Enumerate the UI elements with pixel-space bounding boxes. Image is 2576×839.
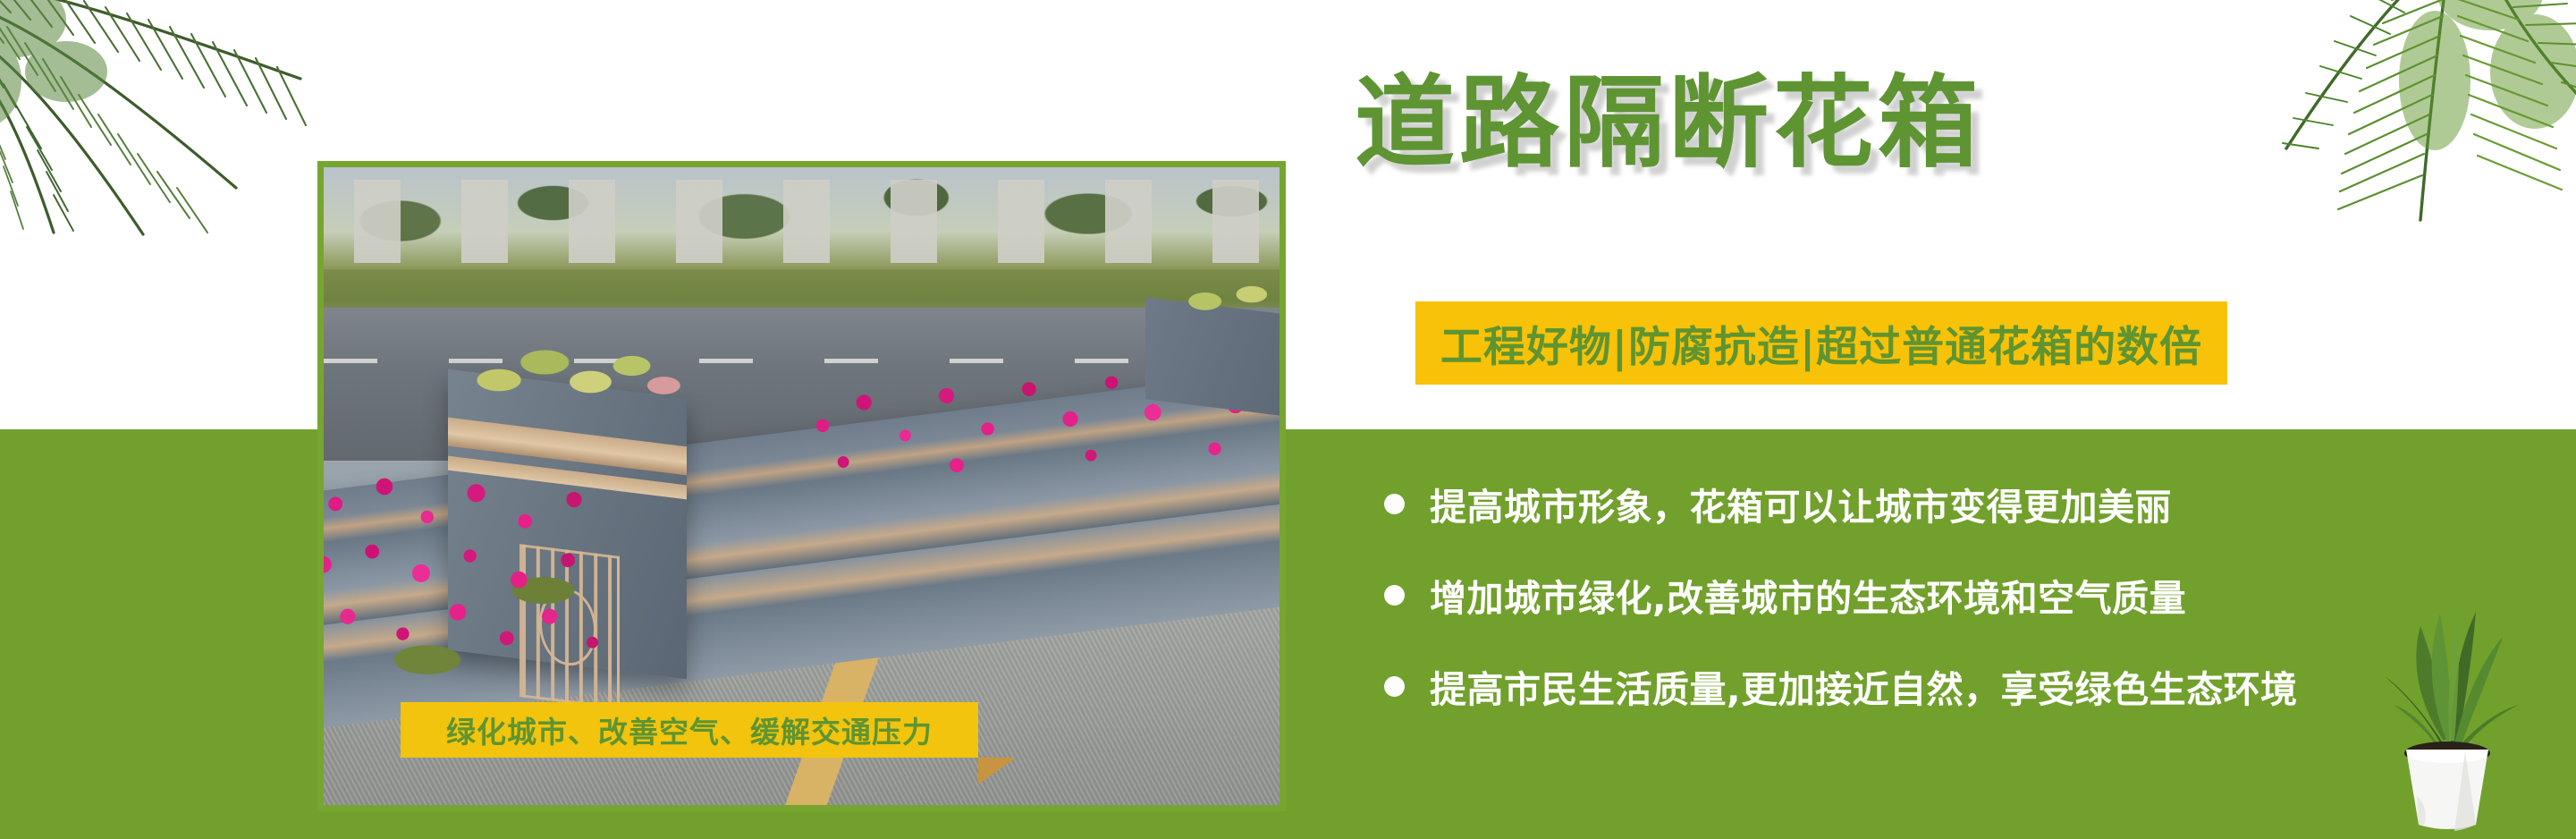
palm-frond-icon [0, 0, 308, 242]
subtitle-text: 工程好物|防腐抗造|超过普通花箱的数倍 [1440, 312, 2202, 374]
palm-frond-icon [2267, 0, 2576, 224]
list-item-label: 提高城市形象，花箱可以让城市变得更加美丽 [1430, 477, 2172, 530]
promo-banner: 绿化城市、改善空气、缓解交通压力 道路隔断花箱 工程好物|防腐抗造|超过普通花箱… [0, 0, 2576, 839]
bullet-dot-icon [1384, 585, 1405, 606]
photo-caption-ribbon: 绿化城市、改善空气、缓解交通压力 [401, 702, 978, 758]
bullet-dot-icon [1384, 494, 1405, 514]
list-item-label: 增加城市绿化,改善城市的生态环境和空气质量 [1430, 568, 2186, 622]
potted-snake-plant-icon [2358, 590, 2537, 839]
ribbon-fold-icon [978, 758, 1016, 784]
page-title: 道路隔断花箱 [1355, 64, 1982, 182]
list-item: 提高城市形象，花箱可以让城市变得更加美丽 [1384, 458, 2555, 549]
subtitle-bar: 工程好物|防腐抗造|超过普通花箱的数倍 [1415, 301, 2227, 385]
bullet-dot-icon [1384, 676, 1405, 697]
list-item-label: 提高市民生活质量,更加接近自然，享受绿色生态环境 [1430, 659, 2298, 713]
photo-caption-text: 绿化城市、改善空气、缓解交通压力 [446, 708, 933, 751]
